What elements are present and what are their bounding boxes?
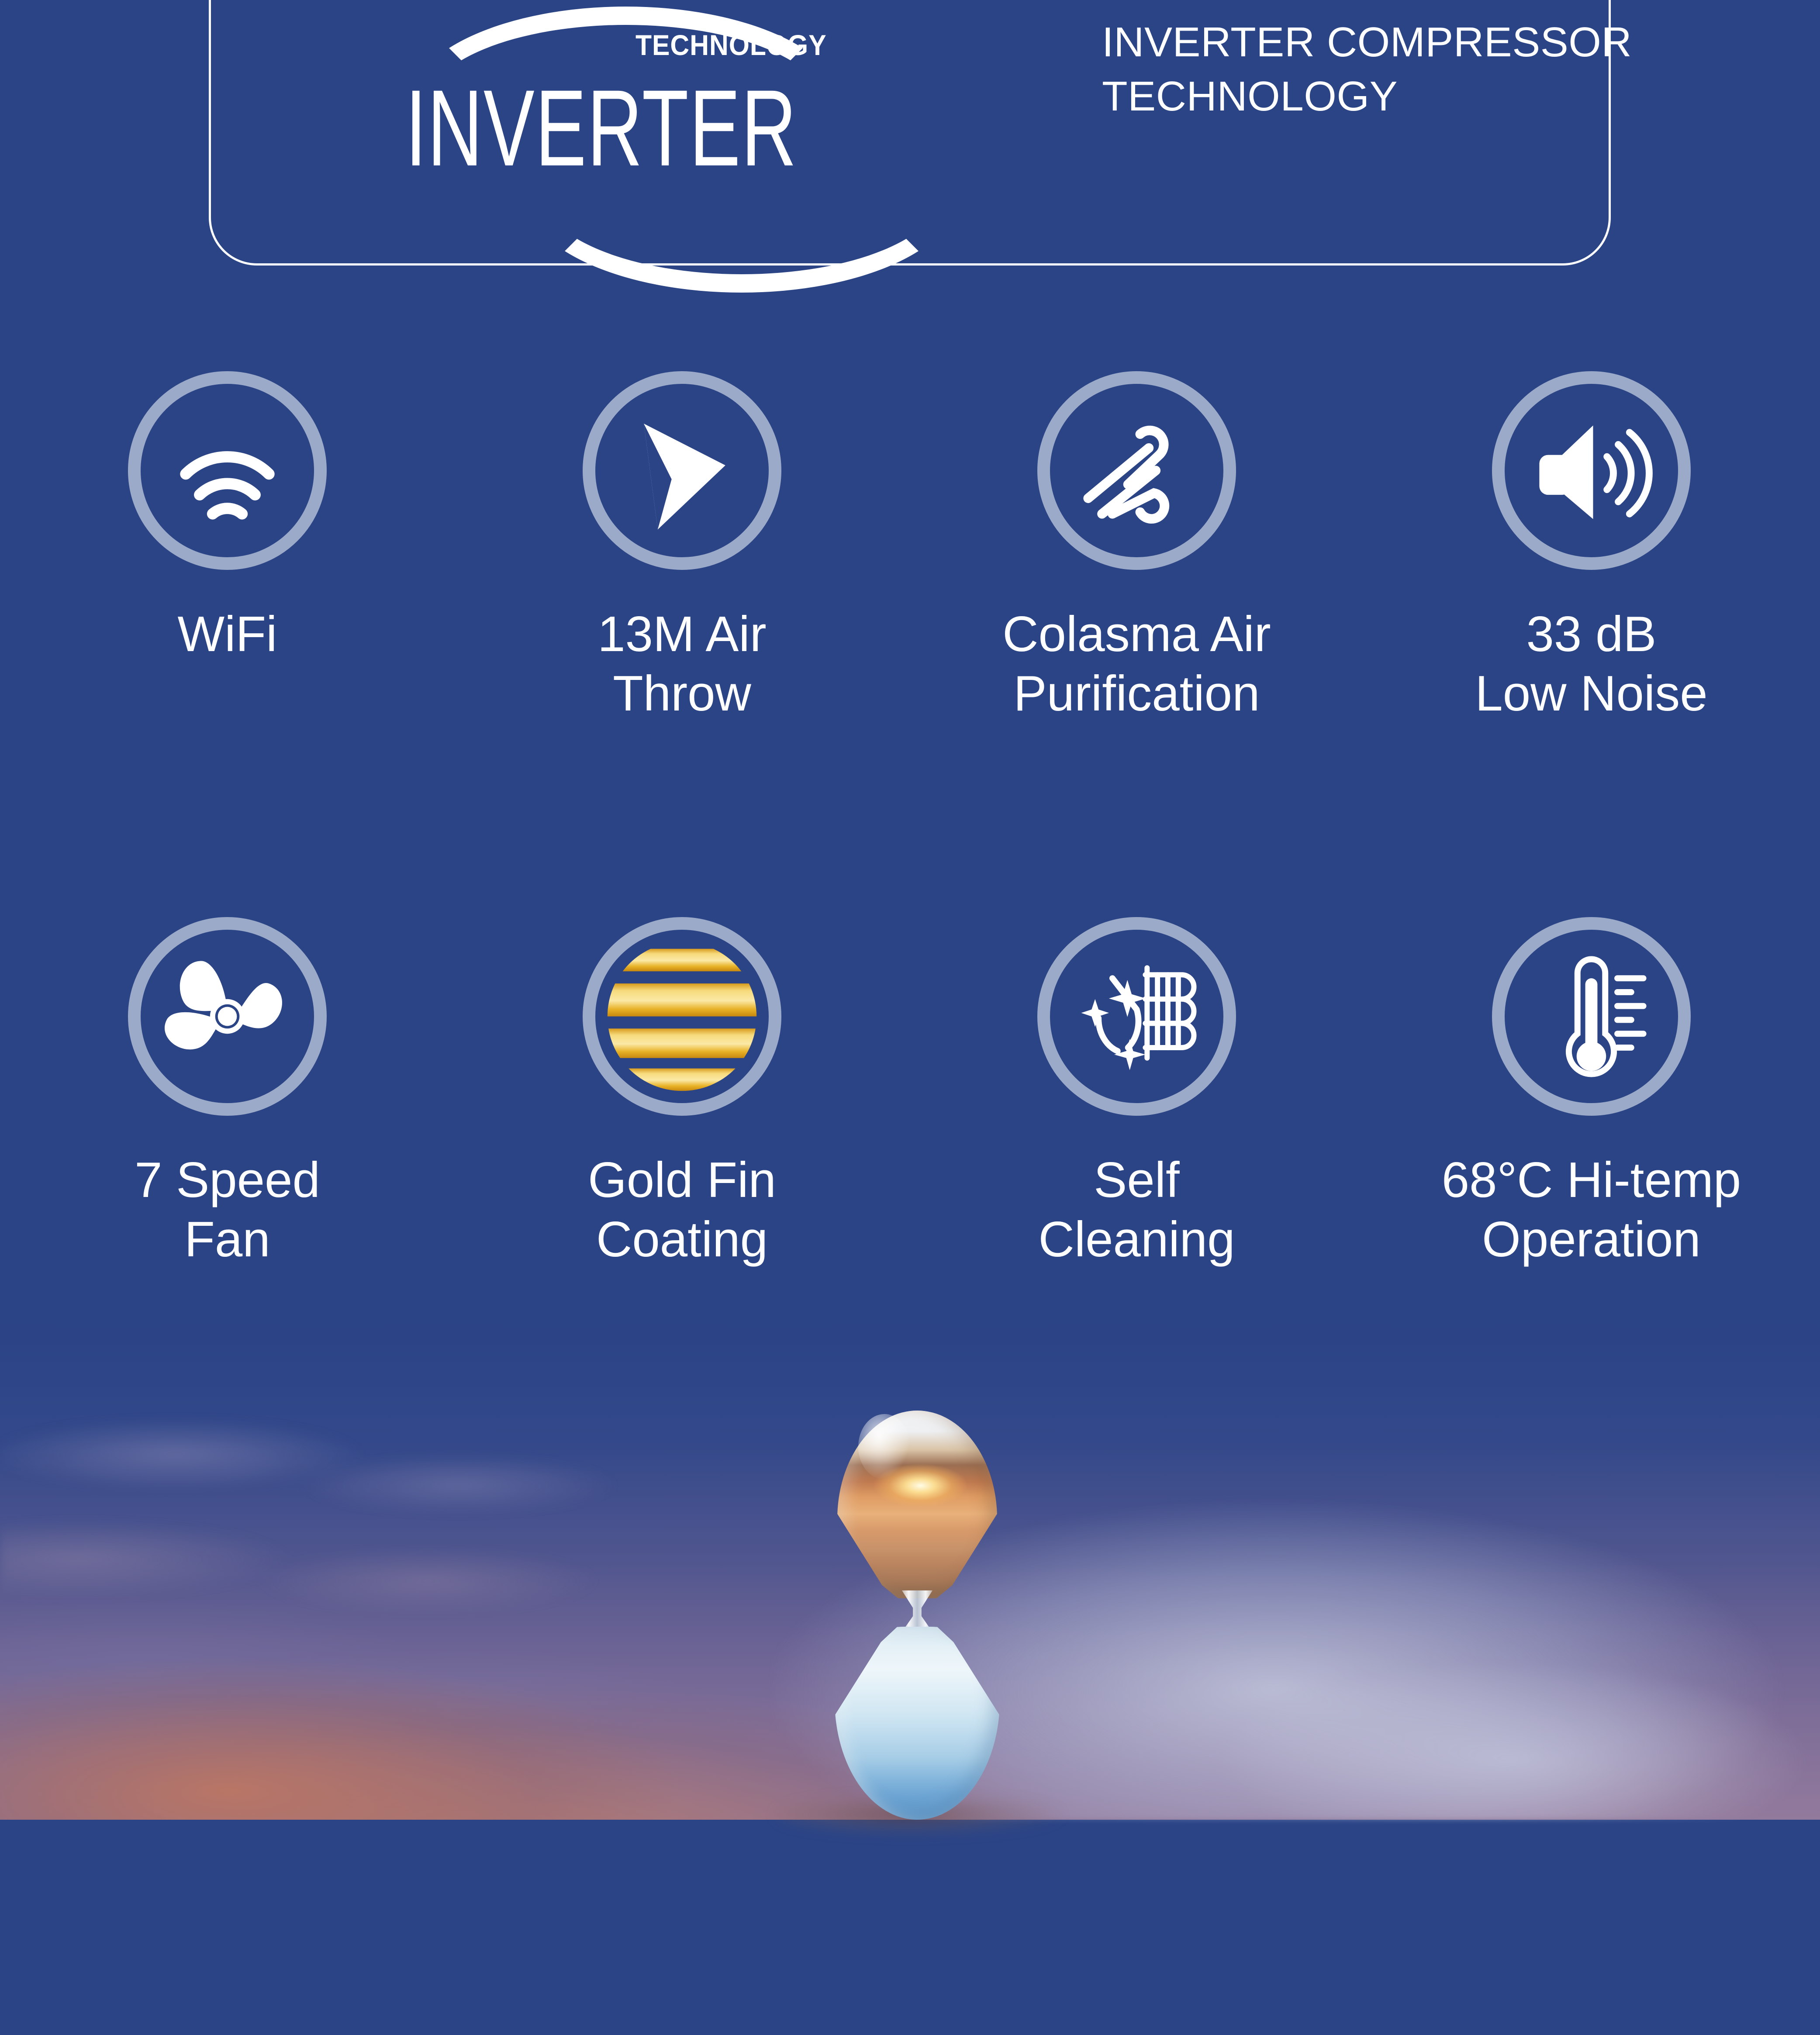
feature-hi-temp[interactable]: 68°C Hi-temp Operation	[1364, 917, 1819, 1269]
feature-air-throw[interactable]: 13M Air Throw	[455, 371, 909, 724]
fan-blade-icon	[128, 917, 327, 1116]
airflow-purification-icon	[1037, 371, 1236, 570]
inverter-technology-badge: INVERTER TECHNOLOGY INVERTER COMPRESSOR …	[209, 0, 1611, 266]
thermometer-icon	[1492, 917, 1691, 1116]
feature-self-cleaning[interactable]: Self Cleaning	[909, 917, 1364, 1269]
wifi-icon	[128, 371, 327, 570]
feature-label: Self Cleaning	[1039, 1151, 1235, 1269]
gold-fin-coil-icon	[583, 917, 781, 1116]
feature-label: 68°C Hi-temp Operation	[1442, 1151, 1741, 1269]
self-cleaning-droplet-coil-icon	[1037, 917, 1236, 1116]
feature-wifi[interactable]: WiFi	[0, 371, 455, 724]
feature-label: 7 Speed Fan	[135, 1151, 320, 1269]
speaker-low-noise-icon	[1492, 371, 1691, 570]
feature-label: 13M Air Throw	[597, 605, 766, 724]
header-title-line-1: INVERTER COMPRESSOR	[1102, 15, 1757, 69]
logo-superscript: TECHNOLOGY	[635, 31, 827, 59]
snow-mountain-peak	[860, 1959, 982, 2035]
air-throw-arrow-icon	[583, 371, 781, 570]
hourglass-bottom-bulb-snow	[835, 1627, 1000, 1820]
feature-low-noise[interactable]: 33 dB Low Noise	[1364, 371, 1819, 724]
feature-label: Gold Fin Coating	[588, 1151, 776, 1269]
feature-label: WiFi	[178, 605, 277, 664]
inverter-logo: INVERTER TECHNOLOGY	[408, 9, 857, 197]
feature-air-purification[interactable]: Colasma Air Purification	[909, 371, 1364, 724]
feature-gold-fin[interactable]: Gold Fin Coating	[455, 917, 909, 1269]
hourglass-hero-image	[832, 1411, 1002, 1820]
feature-fan-speed[interactable]: 7 Speed Fan	[0, 917, 455, 1269]
hourglass-top-bulb-desert	[837, 1411, 997, 1598]
header-title: INVERTER COMPRESSOR TECHNOLOGY	[1102, 15, 1757, 124]
hourglass-glass-highlight	[858, 1414, 911, 1480]
feature-row-2: 7 Speed Fan	[0, 917, 1820, 1269]
feature-row-1: WiFi 13M Air Throw Colasma Air P	[0, 371, 1820, 724]
feature-label: Colasma Air Purification	[1002, 605, 1271, 724]
logo-wordmark: INVERTER	[405, 74, 798, 183]
hourglass-neck	[902, 1590, 932, 1632]
feature-label: 33 dB Low Noise	[1475, 605, 1707, 724]
header-title-line-2: TECHNOLOGY	[1102, 69, 1757, 124]
